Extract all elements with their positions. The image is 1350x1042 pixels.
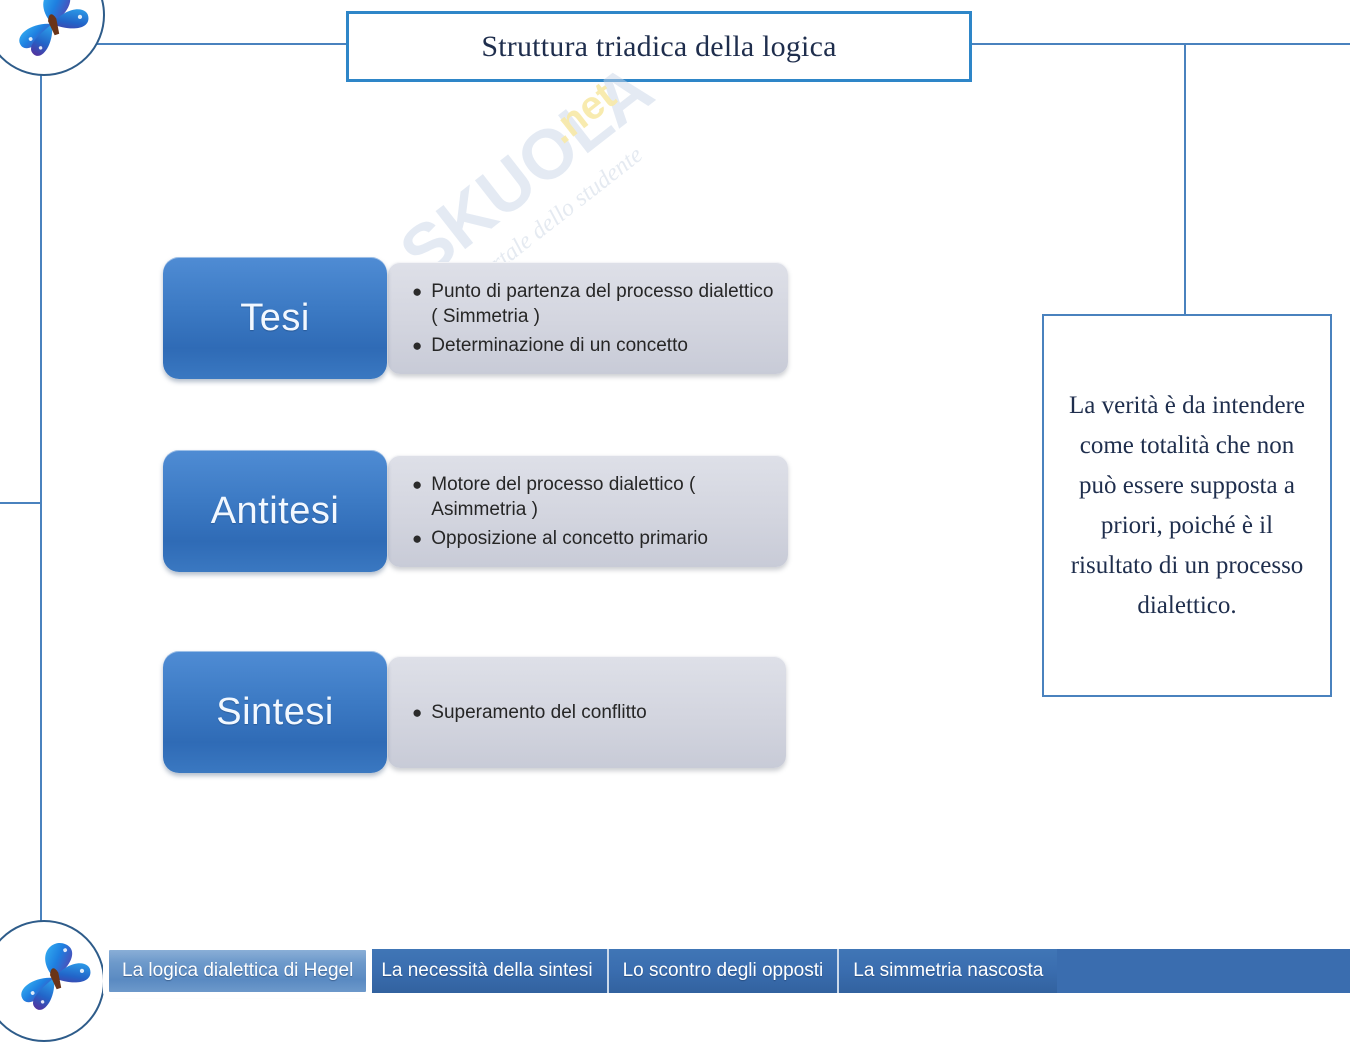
nav-tab-label: La simmetria nascosta xyxy=(853,960,1043,982)
bullet-dot-icon: ● xyxy=(412,526,422,551)
corner-circle-bottom xyxy=(0,920,105,1042)
diagram-body-tesi: ● Punto di partenza del processo dialett… xyxy=(388,262,788,374)
diagram-label-text: Tesi xyxy=(240,297,310,340)
diagram-body-sintesi: ● Superamento del conflitto xyxy=(388,656,786,768)
bullet-dot-icon: ● xyxy=(412,700,422,725)
callout-text: La verità è da intendere come totalità c… xyxy=(1058,386,1316,626)
bullet-text: Opposizione al concetto primario xyxy=(431,526,708,551)
diagram-label-text: Sintesi xyxy=(216,691,334,734)
bullet-text: Determinazione di un concetto xyxy=(431,333,688,358)
nav-tab-label: Lo scontro degli opposti xyxy=(623,960,824,982)
slide-title-box: Struttura triadica della logica xyxy=(346,11,972,82)
slide-canvas: Struttura triadica della logica SKUOLA .… xyxy=(0,0,1350,1013)
diagram-label-sintesi[interactable]: Sintesi xyxy=(163,651,387,773)
list-item: ● Punto di partenza del processo dialett… xyxy=(412,279,774,329)
bullet-dot-icon: ● xyxy=(412,333,422,358)
left-horizontal-tick xyxy=(0,502,42,504)
list-item: ● Superamento del conflitto xyxy=(412,700,772,725)
list-item: ● Determinazione di un concetto xyxy=(412,333,774,358)
bottom-navigation-bar: La logica dialettica di Hegel La necessi… xyxy=(108,949,1350,993)
list-item: ● Motore del processo dialettico ( Asimm… xyxy=(412,472,774,522)
nav-tab-label: La necessità della sintesi xyxy=(381,960,592,982)
nav-tab-necessita-sintesi[interactable]: La necessità della sintesi xyxy=(367,949,608,993)
page-title: Struttura triadica della logica xyxy=(481,30,836,64)
bullet-text: Motore del processo dialettico ( Asimmet… xyxy=(431,472,774,522)
diagram-label-text: Antitesi xyxy=(211,490,340,533)
nav-tab-label: La logica dialettica di Hegel xyxy=(122,960,353,982)
diagram-label-tesi[interactable]: Tesi xyxy=(163,257,387,379)
bullet-text: Punto di partenza del processo dialettic… xyxy=(431,279,774,329)
bullet-dot-icon: ● xyxy=(412,472,422,497)
watermark-brand: SKUOLA xyxy=(386,60,667,293)
diagram-label-antitesi[interactable]: Antitesi xyxy=(163,450,387,572)
nav-tab-simmetria-nascosta[interactable]: La simmetria nascosta xyxy=(839,949,1057,993)
callout-connector-line xyxy=(1184,43,1186,315)
nav-tab-logica-dialettica[interactable]: La logica dialettica di Hegel xyxy=(108,949,367,993)
bullet-dot-icon: ● xyxy=(412,279,422,304)
watermark-suffix: .net xyxy=(541,74,624,152)
list-item: ● Opposizione al concetto primario xyxy=(412,526,774,551)
corner-circle-top xyxy=(0,0,105,76)
callout-text-box: La verità è da intendere come totalità c… xyxy=(1042,314,1332,697)
bullet-text: Superamento del conflitto xyxy=(431,700,646,725)
nav-tab-scontro-opposti[interactable]: Lo scontro degli opposti xyxy=(609,949,840,993)
diagram-body-antitesi: ● Motore del processo dialettico ( Asimm… xyxy=(388,455,788,567)
left-vertical-line xyxy=(40,60,42,960)
